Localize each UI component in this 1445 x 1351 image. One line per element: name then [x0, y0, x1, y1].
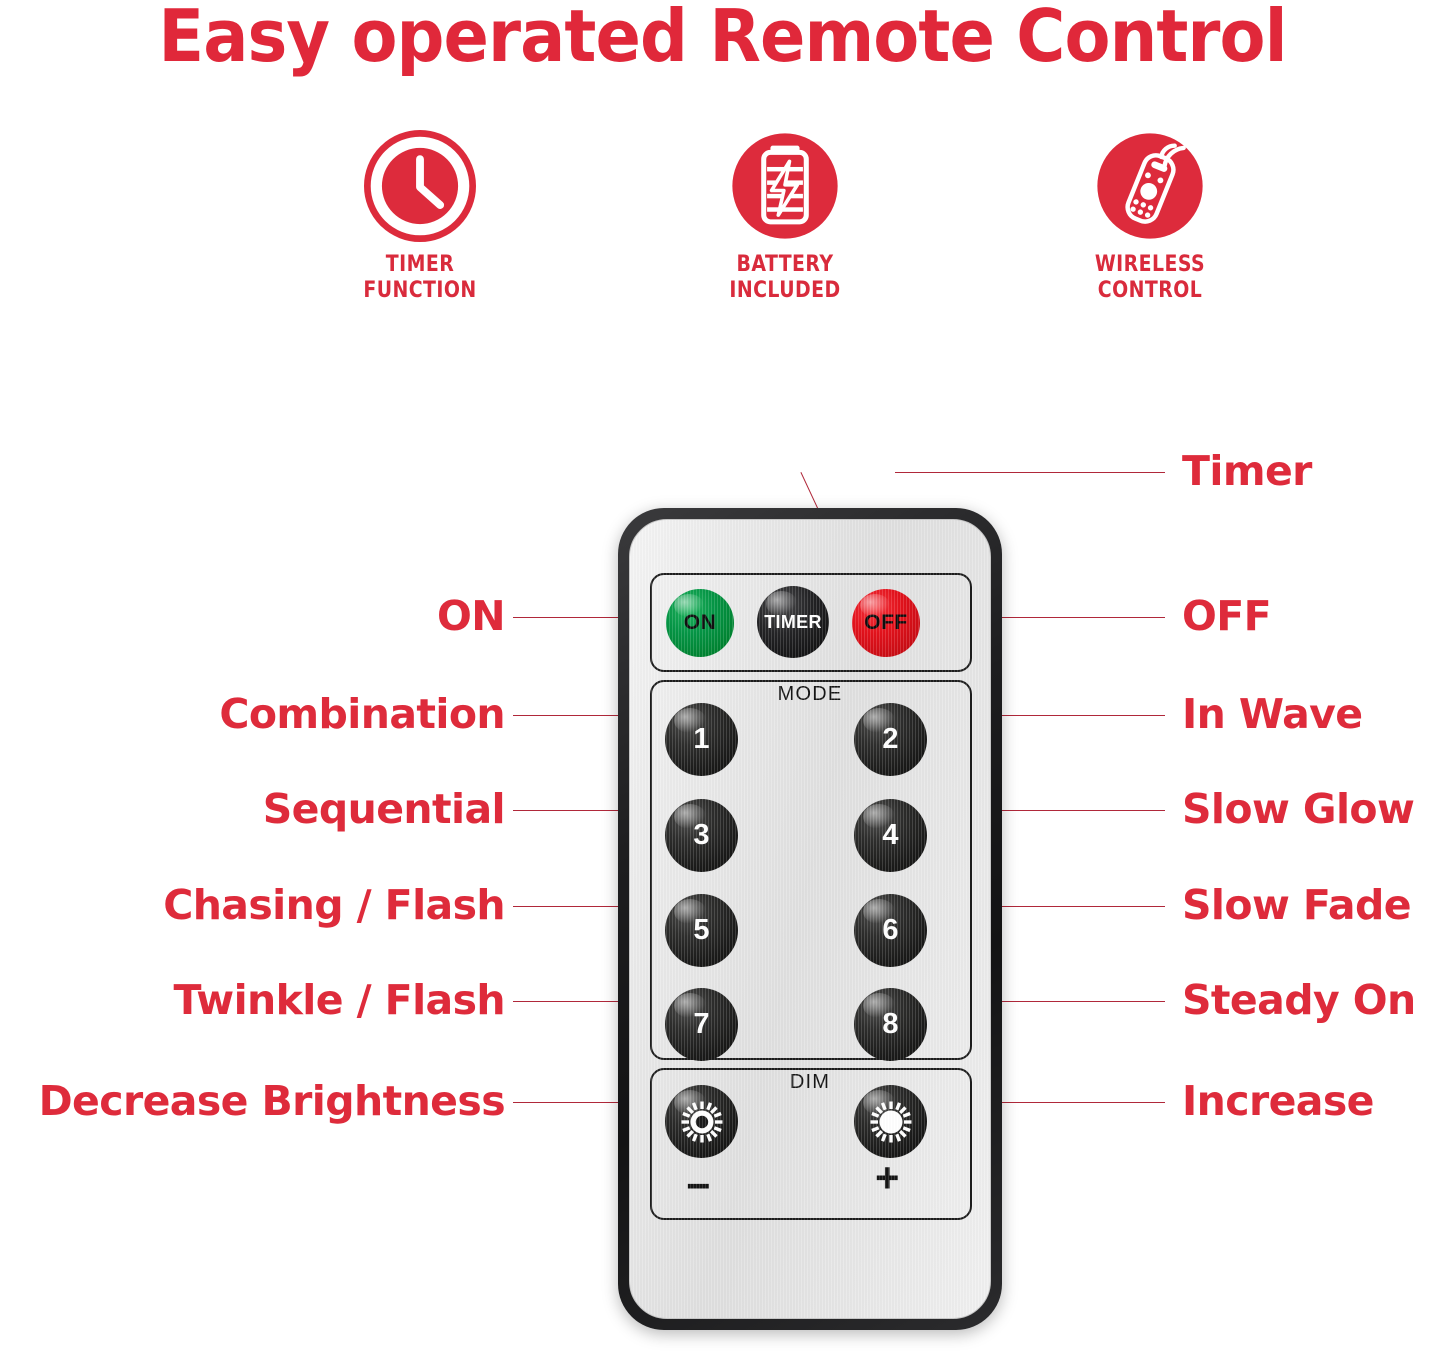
- feature-label: WIRELESS CONTROL: [1038, 252, 1262, 304]
- off-button-label: OFF: [864, 611, 908, 635]
- mode-button-6[interactable]: 6: [854, 894, 927, 967]
- mode-button-label: 8: [882, 1008, 898, 1041]
- leader-line-timer-horizontal: [895, 472, 1165, 473]
- mode-button-label: 7: [693, 1008, 709, 1041]
- remote-control-device: ON TIMER OFF MODE 1 2 3 4 5 6 7 8 DIM: [618, 508, 1002, 1330]
- brightness-high-icon: [867, 1098, 915, 1146]
- callout-decrease-brightness: Decrease Brightness: [0, 1081, 505, 1122]
- off-button[interactable]: OFF: [852, 589, 920, 657]
- dim-decrease-sign: −: [686, 1165, 711, 1207]
- feature-battery-included: BATTERY INCLUDED: [655, 130, 915, 304]
- feature-badges: TIMER FUNCTION BATTERY INCLUDED: [0, 130, 1445, 320]
- callout-chasing-flash: Chasing / Flash: [0, 885, 505, 926]
- feature-label: BATTERY INCLUDED: [673, 252, 897, 304]
- mode-button-4[interactable]: 4: [854, 799, 927, 872]
- callout-steady-on: Steady On: [1182, 980, 1416, 1021]
- callout-slow-glow: Slow Glow: [1182, 789, 1414, 830]
- mode-button-5[interactable]: 5: [665, 894, 738, 967]
- feature-wireless-control: WIRELESS CONTROL: [1020, 130, 1280, 304]
- mode-button-label: 4: [882, 819, 898, 852]
- mode-button-label: 3: [693, 819, 709, 852]
- mode-section-title: MODE: [630, 683, 990, 706]
- clock-icon: [364, 130, 476, 242]
- callout-increase: Increase: [1182, 1081, 1374, 1122]
- mode-button-label: 6: [882, 914, 898, 947]
- mode-button-7[interactable]: 7: [665, 988, 738, 1061]
- mode-button-2[interactable]: 2: [854, 703, 927, 776]
- callout-combination: Combination: [0, 694, 505, 735]
- feature-timer-function: TIMER FUNCTION: [290, 130, 550, 304]
- on-button[interactable]: ON: [666, 589, 734, 657]
- mode-button-label: 5: [693, 914, 709, 947]
- callout-slow-fade: Slow Fade: [1182, 885, 1411, 926]
- mode-button-1[interactable]: 1: [665, 703, 738, 776]
- brightness-low-icon: [678, 1098, 726, 1146]
- battery-icon: [729, 130, 841, 242]
- timer-button[interactable]: TIMER: [757, 586, 829, 658]
- feature-label: TIMER FUNCTION: [308, 252, 532, 304]
- callout-sequential: Sequential: [0, 789, 505, 830]
- dim-decrease-button[interactable]: [665, 1085, 738, 1158]
- infographic-canvas: Easy operated Remote Control TIMER FUNCT…: [0, 0, 1445, 1351]
- mode-button-3[interactable]: 3: [665, 799, 738, 872]
- callout-on: ON: [0, 596, 505, 637]
- timer-button-label: TIMER: [764, 612, 822, 633]
- callout-timer: Timer: [1182, 451, 1312, 492]
- remote-signal-icon: [1094, 130, 1206, 242]
- remote-faceplate: ON TIMER OFF MODE 1 2 3 4 5 6 7 8 DIM: [629, 519, 991, 1319]
- page-title: Easy operated Remote Control: [51, 0, 1395, 74]
- on-button-label: ON: [684, 611, 717, 635]
- dim-increase-sign: +: [875, 1157, 900, 1199]
- mode-button-8[interactable]: 8: [854, 988, 927, 1061]
- callout-off: OFF: [1182, 596, 1271, 637]
- mode-button-label: 1: [693, 723, 709, 756]
- callout-in-wave: In Wave: [1182, 694, 1362, 735]
- mode-button-label: 2: [882, 723, 898, 756]
- dim-increase-button[interactable]: [854, 1085, 927, 1158]
- callout-twinkle-flash: Twinkle / Flash: [0, 980, 505, 1021]
